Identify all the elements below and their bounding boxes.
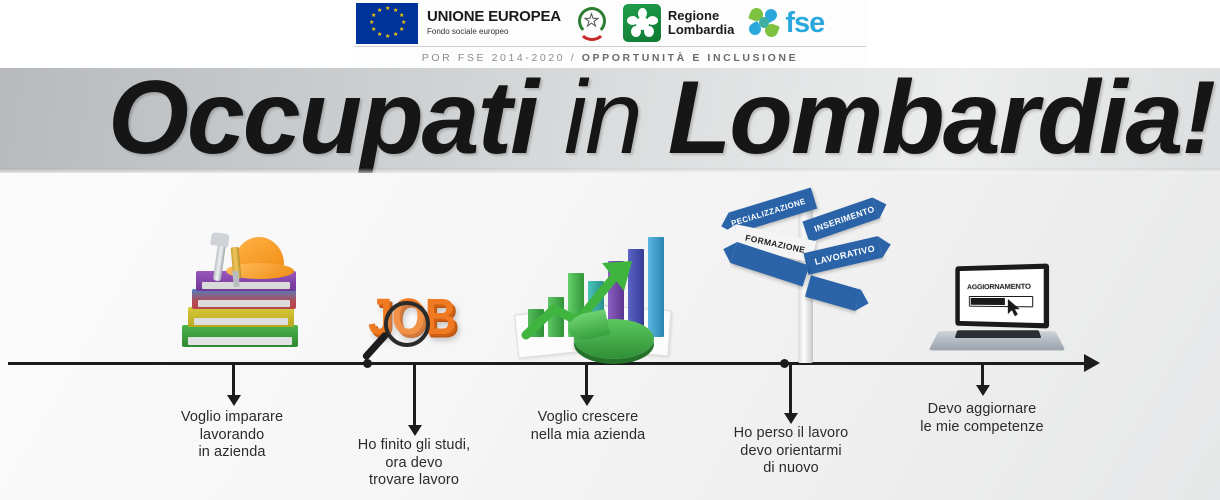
- timeline-tick-arrowhead: [408, 425, 422, 436]
- caption-step-1: Voglio imparare lavorando in azienda: [152, 409, 312, 462]
- timeline-tick-arrowhead: [580, 395, 594, 406]
- regione-lombardia-logo: Regione Lombardia: [623, 4, 734, 42]
- caption-line: in azienda: [152, 444, 312, 462]
- sign-label: INSERIMENTO: [813, 204, 876, 234]
- subtitle-prefix: POR FSE 2014-2020 /: [422, 52, 582, 64]
- caption-line: Voglio imparare: [152, 409, 312, 427]
- growth-charts-icon: [512, 235, 672, 361]
- eu-subtitle: Fondo sociale europeo: [427, 26, 561, 37]
- logo-row: UNIONE EUROPEA Fondo sociale europeo ★: [352, 0, 868, 46]
- caption-line: le mie competenze: [898, 419, 1066, 437]
- logo-strip: UNIONE EUROPEA Fondo sociale europeo ★: [352, 0, 868, 68]
- repubblica-italiana-emblem-icon: ★: [575, 3, 609, 44]
- regione-line2: Lombardia: [668, 23, 734, 37]
- caption-line: lavorando: [152, 427, 312, 445]
- fse-text: fse: [785, 9, 824, 38]
- eu-flag-icon: [356, 3, 418, 44]
- eu-name: UNIONE EUROPEA: [427, 9, 561, 25]
- caption-step-4: Ho perso il lavoro devo orientarmi di nu…: [708, 425, 874, 478]
- laptop-label: AGGIORNAMENTO: [967, 282, 1031, 292]
- institutional-logo-bar: UNIONE EUROPEA Fondo sociale europeo ★: [0, 0, 1220, 68]
- title-part2: in: [564, 68, 641, 173]
- timeline-axis: [8, 362, 1090, 365]
- programme-subtitle-row: POR FSE 2014-2020 / OPPORTUNITÀ E INCLUS…: [352, 47, 868, 68]
- eu-logo: UNIONE EUROPEA Fondo sociale europeo: [356, 3, 561, 44]
- caption-line: Ho finito gli studi,: [330, 437, 498, 455]
- timeline-tick: [232, 364, 235, 396]
- fse-pinwheel-icon: [748, 6, 780, 40]
- page-title: Occupati in Lombardia!: [108, 68, 1214, 171]
- signpost-icon: SPECIALIZZAZIONE INSERIMENTO FORMAZIONE …: [722, 173, 892, 363]
- timeline-tick-arrowhead: [784, 413, 798, 424]
- timeline-dot-marker: [780, 359, 789, 368]
- caption-step-5: Devo aggiornare le mie competenze: [898, 401, 1066, 436]
- caption-step-2: Ho finito gli studi, ora devo trovare la…: [330, 437, 498, 490]
- subtitle-bold: OPPORTUNITÀ E INCLUSIONE: [582, 52, 798, 64]
- job-magnifier-icon: JOB: [356, 293, 476, 361]
- title-part3: Lombardia!: [668, 68, 1214, 173]
- regione-line1: Regione: [668, 9, 734, 23]
- sign-label: LAVORATIVO: [814, 243, 876, 267]
- caption-line: devo orientarmi: [708, 443, 874, 461]
- caption-line: nella mia azienda: [500, 427, 676, 445]
- title-part1: Occupati: [108, 68, 537, 173]
- sign-blade-right: [805, 275, 861, 310]
- caption-step-3: Voglio crescere nella mia azienda: [500, 409, 676, 444]
- title-band: Occupati in Lombardia!: [0, 68, 1220, 173]
- caption-line: ora devo: [330, 455, 498, 473]
- timeline-area: JOB SPECIALIZZAZIONE INSERIMENTO: [0, 173, 1220, 500]
- cursor-arrow-icon: [1007, 298, 1023, 318]
- laptop-update-icon: AGGIORNAMENTO: [930, 265, 1062, 361]
- caption-line: Voglio crescere: [500, 409, 676, 427]
- programme-subtitle: POR FSE 2014-2020 / OPPORTUNITÀ E INCLUS…: [422, 52, 798, 64]
- caption-line: Ho perso il lavoro: [708, 425, 874, 443]
- fse-logo: fse: [748, 6, 824, 40]
- timeline-tick: [585, 364, 588, 396]
- timeline-dot-marker: [363, 359, 372, 368]
- timeline-axis-arrowhead: [1084, 354, 1100, 372]
- timeline-tick-arrowhead: [227, 395, 241, 406]
- caption-line: Devo aggiornare: [898, 401, 1066, 419]
- timeline-tick-arrowhead: [976, 385, 990, 396]
- timeline-tick: [413, 364, 416, 426]
- caption-line: di nuovo: [708, 460, 874, 478]
- caption-line: trovare lavoro: [330, 472, 498, 490]
- timeline-tick: [789, 364, 792, 414]
- books-helmet-tools-icon: [178, 233, 303, 361]
- timeline-tick: [981, 364, 984, 386]
- regione-lombardia-rose-icon: [623, 4, 661, 42]
